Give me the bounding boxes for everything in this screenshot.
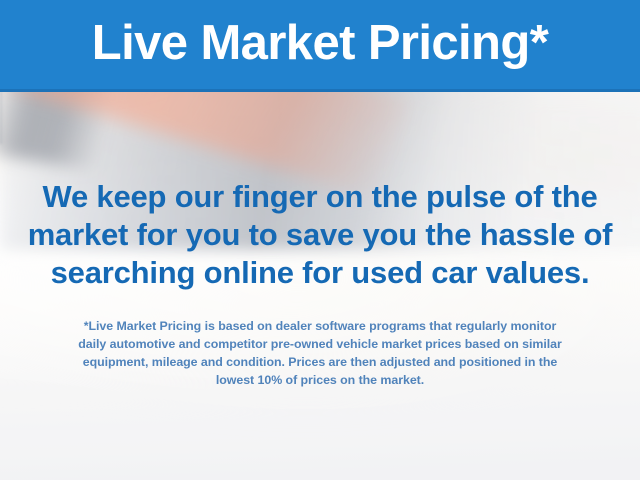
header-banner: Live Market Pricing* [0, 0, 640, 92]
fineprint-line-2: daily automotive and competitor pre-owne… [0, 335, 640, 353]
headline-line-3: searching online for used car values. [0, 254, 640, 292]
headline-line-2: market for you to save you the hassle of [0, 216, 640, 254]
live-market-pricing-slide: Live Market Pricing* We keep our finger … [0, 0, 640, 480]
headline-line-1: We keep our finger on the pulse of the [0, 178, 640, 216]
fineprint-line-1: *Live Market Pricing is based on dealer … [0, 317, 640, 335]
headline-block: We keep our finger on the pulse of the m… [0, 178, 640, 292]
fineprint-line-3: equipment, mileage and condition. Prices… [0, 353, 640, 371]
page-title: Live Market Pricing* [92, 19, 548, 68]
fineprint-line-4: lowest 10% of prices on the market. [0, 371, 640, 389]
fineprint-disclaimer: *Live Market Pricing is based on dealer … [0, 317, 640, 389]
